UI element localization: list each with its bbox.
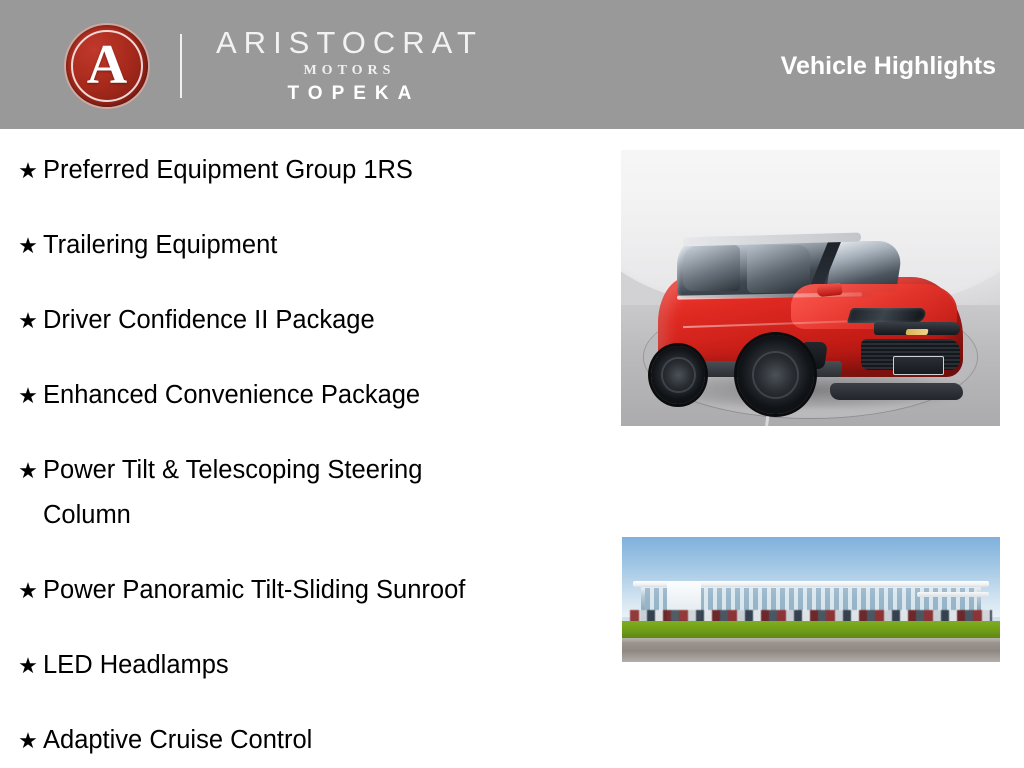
list-item: ★ Preferred Equipment Group 1RS <box>0 148 590 193</box>
slide-header: A ARISTOCRAT MOTORS TOPEKA Vehicle Highl… <box>0 0 1024 129</box>
list-item: ★ Driver Confidence II Package <box>0 298 590 343</box>
list-item: ★ Trailering Equipment <box>0 223 590 268</box>
list-item-label: Power Tilt & Telescoping Steering Column <box>43 448 503 538</box>
road <box>622 642 1000 662</box>
dealership-logo: A ARISTOCRAT MOTORS TOPEKA <box>66 25 483 107</box>
list-item-label: Trailering Equipment <box>43 223 277 268</box>
front-bumper <box>830 383 964 400</box>
emblem-letter: A <box>87 37 127 93</box>
brand-name: ARISTOCRAT <box>216 27 483 60</box>
list-item: ★ Adaptive Cruise Control <box>0 718 590 763</box>
vehicle-highlights-slide: A ARISTOCRAT MOTORS TOPEKA Vehicle Highl… <box>0 0 1024 768</box>
list-item: ★ Enhanced Convenience Package <box>0 373 590 418</box>
brand-subtitle: MOTORS <box>303 63 395 79</box>
star-bullet-icon: ★ <box>13 718 43 763</box>
list-item-label: Power Panoramic Tilt-Sliding Sunroof <box>43 568 465 613</box>
star-bullet-icon: ★ <box>13 643 43 688</box>
star-bullet-icon: ★ <box>13 298 43 343</box>
logo-divider <box>180 34 182 98</box>
chevrolet-blazer-rs <box>651 233 969 404</box>
star-bullet-icon: ★ <box>13 148 43 193</box>
star-bullet-icon: ★ <box>13 568 43 613</box>
rear-wheel <box>651 346 705 404</box>
star-bullet-icon: ★ <box>13 448 43 493</box>
list-item: ★ Power Tilt & Telescoping Steering Colu… <box>0 448 590 538</box>
front-wheel <box>737 335 813 414</box>
list-item-label: Driver Confidence II Package <box>43 298 375 343</box>
list-item-label: Enhanced Convenience Package <box>43 373 420 418</box>
star-bullet-icon: ★ <box>13 223 43 268</box>
list-item: ★ LED Headlamps <box>0 643 590 688</box>
lawn <box>622 621 1000 639</box>
aristocrat-emblem-icon: A <box>66 25 148 107</box>
service-canopy <box>917 592 989 597</box>
chevrolet-bowtie-icon <box>905 329 929 335</box>
dealership-photo <box>622 537 1000 662</box>
vehicle-photo <box>621 150 1000 426</box>
list-item-label: LED Headlamps <box>43 643 229 688</box>
dealer-license-plate <box>893 356 944 375</box>
list-item-label: Preferred Equipment Group 1RS <box>43 148 413 193</box>
rear-window <box>683 245 740 291</box>
page-title: Vehicle Highlights <box>781 52 996 81</box>
highlights-list: ★ Preferred Equipment Group 1RS ★ Traile… <box>0 148 590 763</box>
list-item-label: Adaptive Cruise Control <box>43 718 312 763</box>
front-door-window <box>747 245 811 293</box>
star-bullet-icon: ★ <box>13 373 43 418</box>
list-item: ★ Power Panoramic Tilt-Sliding Sunroof <box>0 568 590 613</box>
brand-wordmark: ARISTOCRAT MOTORS TOPEKA <box>216 27 483 106</box>
brand-city: TOPEKA <box>279 83 421 105</box>
